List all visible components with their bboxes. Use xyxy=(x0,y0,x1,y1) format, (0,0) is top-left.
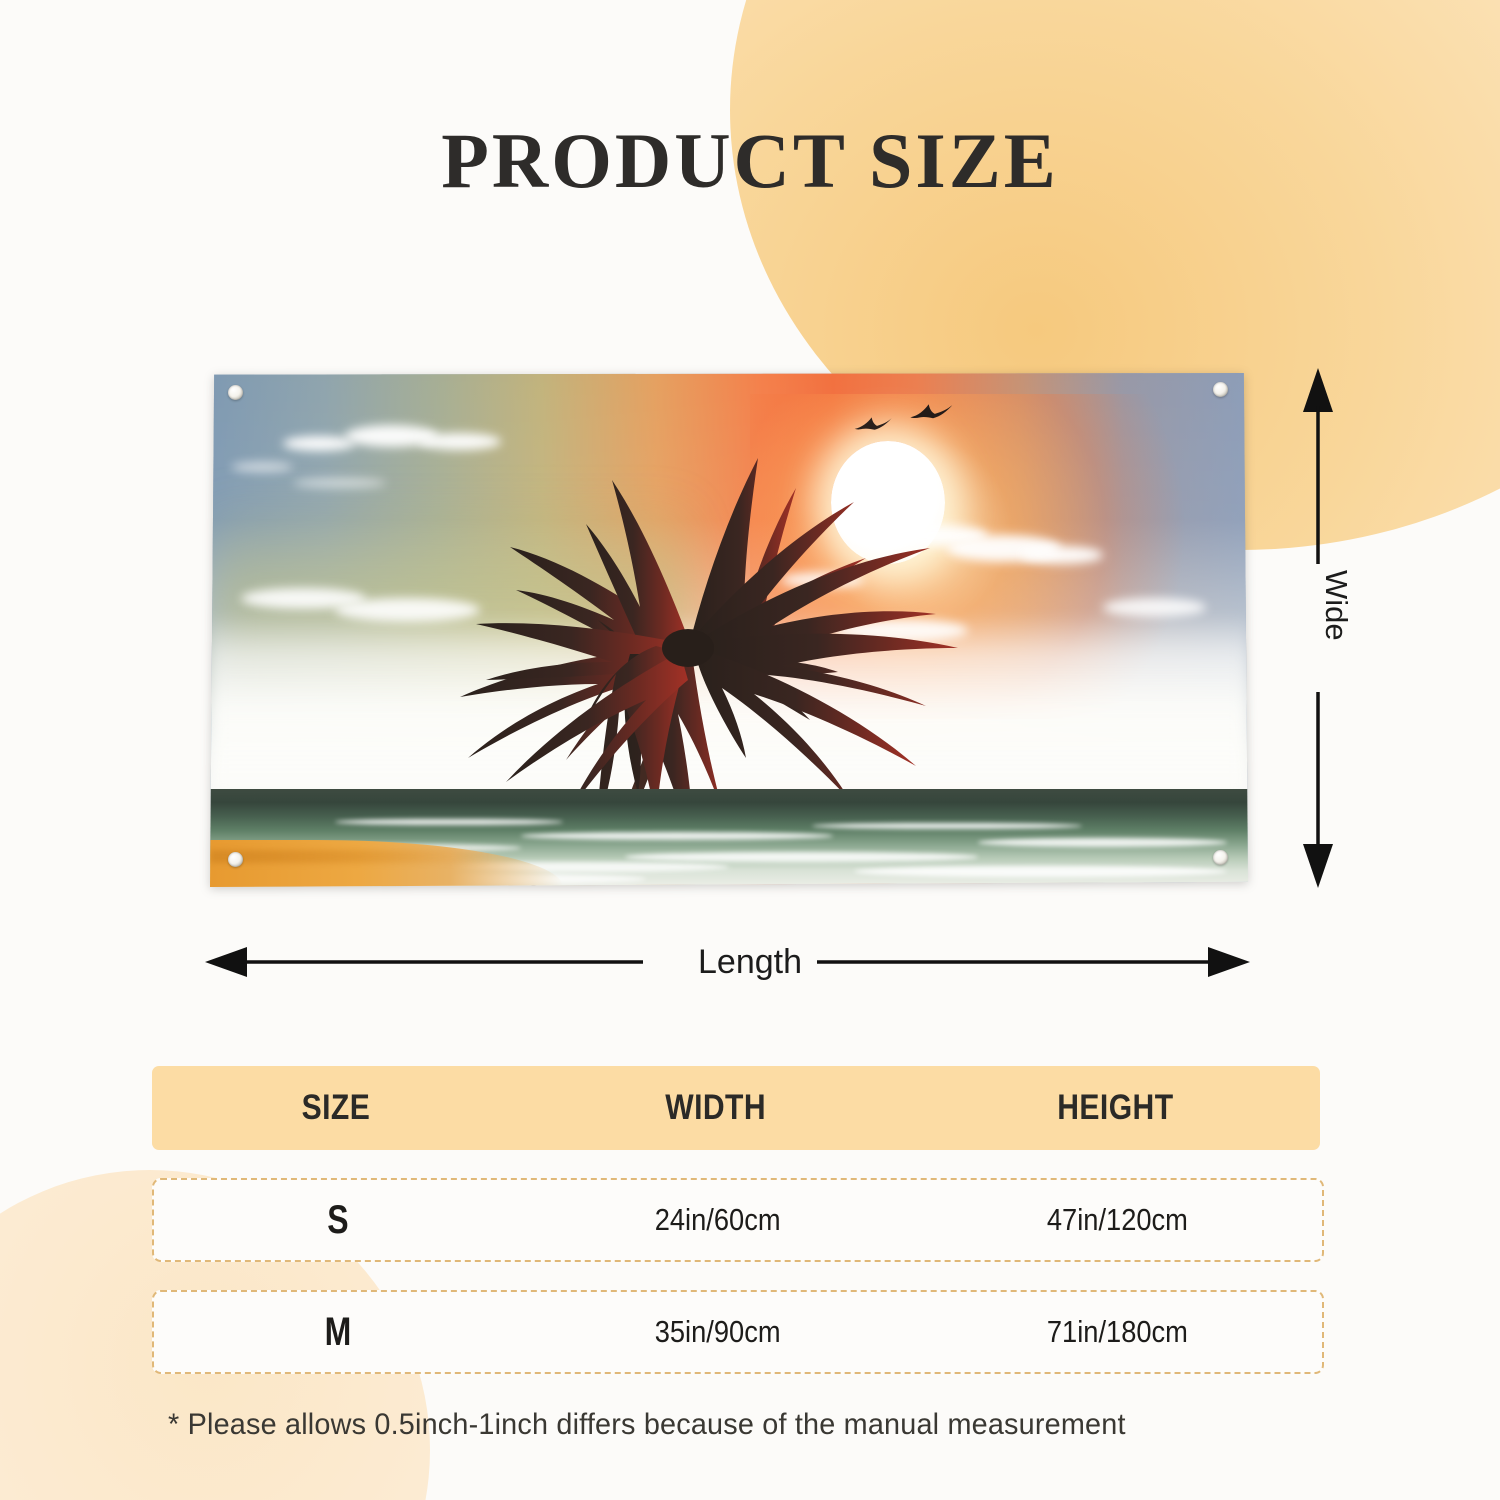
column-header-width: WIDTH xyxy=(547,1088,883,1128)
grommet-icon xyxy=(1213,382,1228,397)
column-header-height: HEIGHT xyxy=(940,1088,1292,1128)
measurement-footnote: * Please allows 0.5inch-1inch differs be… xyxy=(168,1408,1126,1442)
table-row[interactable]: S 24in/60cm 47in/120cm xyxy=(152,1178,1324,1262)
table-row[interactable]: M 35in/90cm 71in/180cm xyxy=(152,1290,1324,1374)
cell-size: S xyxy=(191,1198,485,1243)
product-banner-image xyxy=(210,362,1248,887)
size-table: SIZE WIDTH HEIGHT S 24in/60cm 47in/120cm… xyxy=(152,1066,1324,1374)
table-header-row: SIZE WIDTH HEIGHT xyxy=(152,1066,1320,1150)
banner-artwork xyxy=(210,362,1248,887)
cell-height: 71in/180cm xyxy=(938,1314,1298,1350)
cell-height: 47in/120cm xyxy=(938,1202,1298,1238)
length-label: Length xyxy=(0,930,1500,994)
page-title: PRODUCT SIZE xyxy=(0,116,1500,206)
bird-icon xyxy=(841,412,905,435)
grommet-icon xyxy=(1213,850,1228,865)
grommet-icon xyxy=(228,852,243,867)
bird-icon xyxy=(895,399,968,425)
cell-size: M xyxy=(191,1310,485,1355)
wide-label: Wide xyxy=(1284,570,1354,641)
grommet-icon xyxy=(228,385,243,400)
wet-sand xyxy=(210,850,490,863)
cell-width: 24in/60cm xyxy=(545,1202,889,1238)
cell-width: 35in/90cm xyxy=(545,1314,889,1350)
product-size-page: PRODUCT SIZE xyxy=(0,0,1500,1500)
column-header-size: SIZE xyxy=(178,1088,494,1128)
